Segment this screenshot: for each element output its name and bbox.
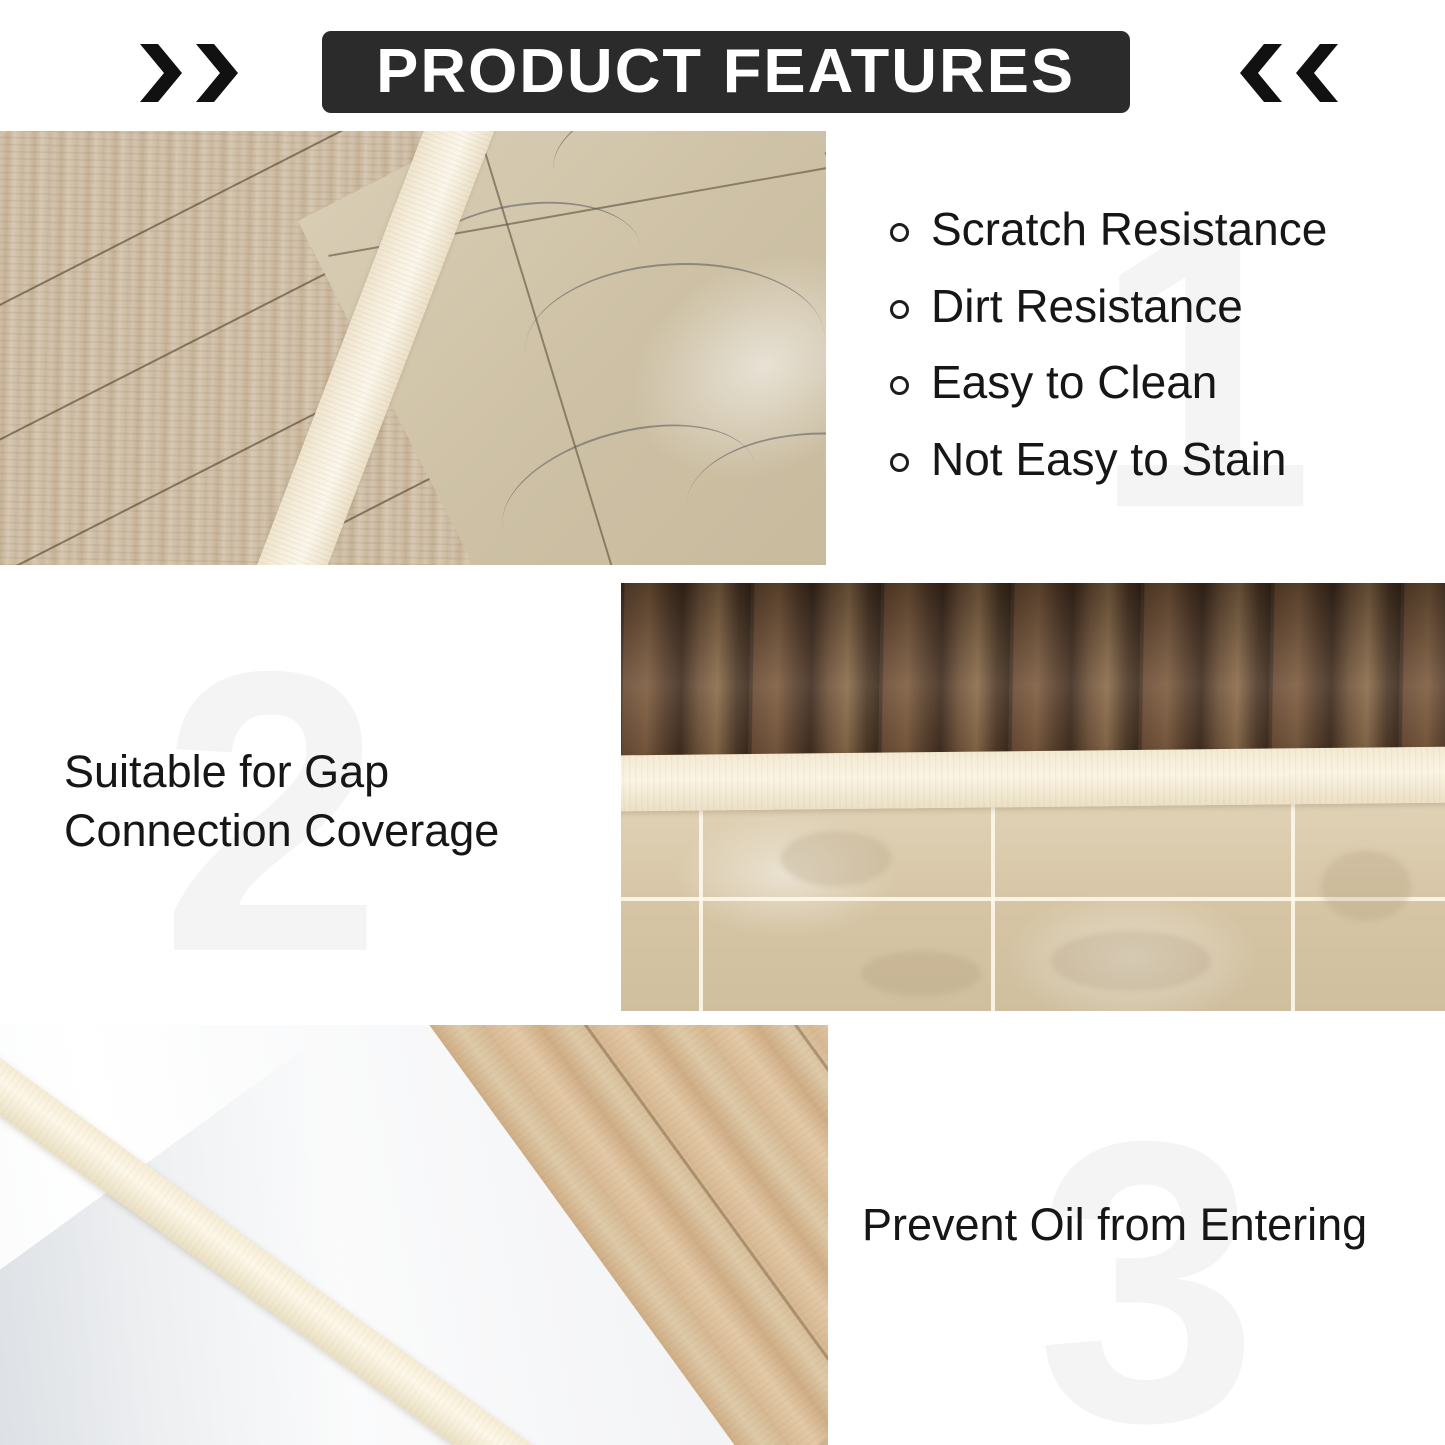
section-2-caption: Suitable for Gap Connection Coverage (64, 742, 584, 861)
circle-outline-bullet-icon (890, 376, 909, 395)
circle-outline-bullet-icon (890, 453, 909, 472)
product-features-infographic: PRODUCT FEATURES 1 (0, 0, 1445, 1445)
transition-strip (621, 747, 1445, 812)
circle-outline-bullet-icon (890, 300, 909, 319)
page-title: PRODUCT FEATURES (376, 41, 1075, 103)
section-3-caption: Prevent Oil from Entering (862, 1198, 1432, 1252)
double-chevron-left-icon (1238, 42, 1340, 104)
section-3-photo (0, 1025, 828, 1445)
list-item: Not Easy to Stain (890, 435, 1410, 485)
circle-outline-bullet-icon (890, 223, 909, 242)
list-item: Easy to Clean (890, 358, 1410, 408)
section-2-caption-line-1: Suitable for Gap (64, 742, 584, 801)
section-2-photo (621, 583, 1445, 1011)
header: PRODUCT FEATURES (0, 0, 1445, 130)
feature-label: Dirt Resistance (931, 282, 1243, 332)
feature-label: Not Easy to Stain (931, 435, 1286, 485)
page-title-bar: PRODUCT FEATURES (322, 31, 1130, 113)
section-3-watermark-number: 3 (1036, 1082, 1258, 1445)
list-item: Dirt Resistance (890, 282, 1410, 332)
feature-label: Easy to Clean (931, 358, 1217, 408)
feature-label: Scratch Resistance (931, 205, 1327, 255)
section-1-feature-list: Scratch Resistance Dirt Resistance Easy … (890, 205, 1410, 512)
section-1-photo (0, 131, 826, 565)
dark-wood-sheen (621, 583, 1445, 768)
list-item: Scratch Resistance (890, 205, 1410, 255)
travertine-tile-floor (621, 801, 1445, 1011)
double-chevron-right-icon (138, 42, 240, 104)
section-2-caption-line-2: Connection Coverage (64, 801, 584, 860)
